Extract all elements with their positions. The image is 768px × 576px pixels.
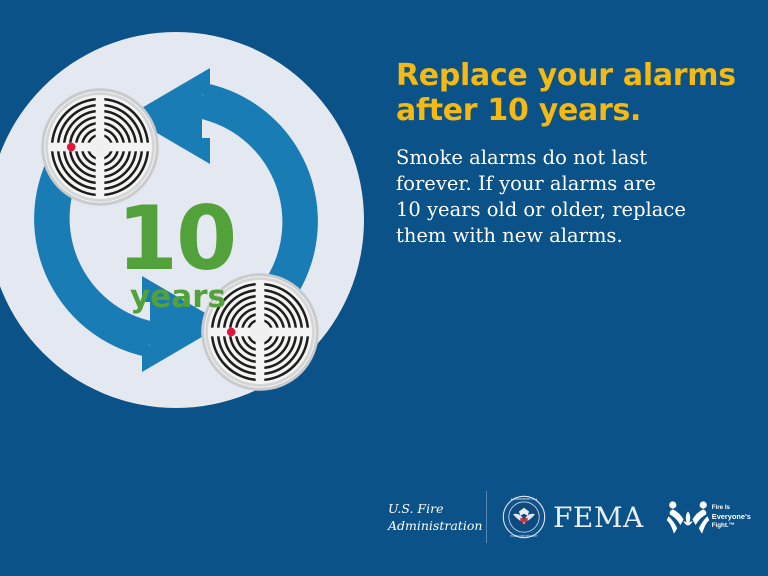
footer-logo-bar: U.S. Fire Administration ★ DEPARTMENT OF…	[388, 486, 754, 548]
fema-wordmark-text: FEMA	[553, 501, 644, 534]
usfa-wordmark: U.S. Fire Administration	[388, 500, 476, 535]
fief-line-2: Everyone's	[712, 512, 751, 521]
usfa-line-1: U.S. Fire	[388, 500, 476, 517]
body-line-1: Smoke alarms do not last	[396, 145, 748, 171]
fief-figures-icon	[666, 497, 710, 537]
replace-alarms-cycle-graphic: 10 years	[0, 32, 364, 408]
footer-divider	[486, 491, 487, 543]
badge-number: 10	[117, 187, 235, 290]
svg-text:★ DEPARTMENT OF ★: ★ DEPARTMENT OF ★	[511, 497, 538, 501]
fief-line-3: Fight.™	[712, 522, 751, 530]
body-line-3: 10 years old or older, replace	[396, 197, 748, 223]
headline: Replace your alarms after 10 years.	[396, 58, 748, 129]
usfa-line-2: Administration	[388, 517, 476, 534]
svg-text:HOMELAND SECURITY: HOMELAND SECURITY	[510, 534, 538, 538]
body-text: Smoke alarms do not last forever. If you…	[396, 145, 748, 249]
fief-tagline: Fire Is Everyone's Fight.™	[712, 504, 751, 529]
headline-line-2: after 10 years.	[396, 93, 748, 128]
poster-canvas: 10 years Replace your alarms after 10 ye…	[0, 0, 768, 576]
message-block: Replace your alarms after 10 years. Smok…	[396, 58, 748, 248]
fema-logo: ★ DEPARTMENT OF ★ HOMELAND SECURITY FEMA	[501, 494, 644, 540]
fief-line-1: Fire Is	[712, 504, 751, 512]
badge-unit: years	[130, 279, 226, 315]
fire-is-everyones-fight-logo: Fire Is Everyone's Fight.™	[666, 497, 751, 537]
headline-line-1: Replace your alarms	[396, 58, 748, 93]
body-line-4: them with new alarms.	[396, 223, 748, 249]
body-line-2: forever. If your alarms are	[396, 171, 748, 197]
dhs-seal-icon: ★ DEPARTMENT OF ★ HOMELAND SECURITY	[501, 494, 547, 540]
